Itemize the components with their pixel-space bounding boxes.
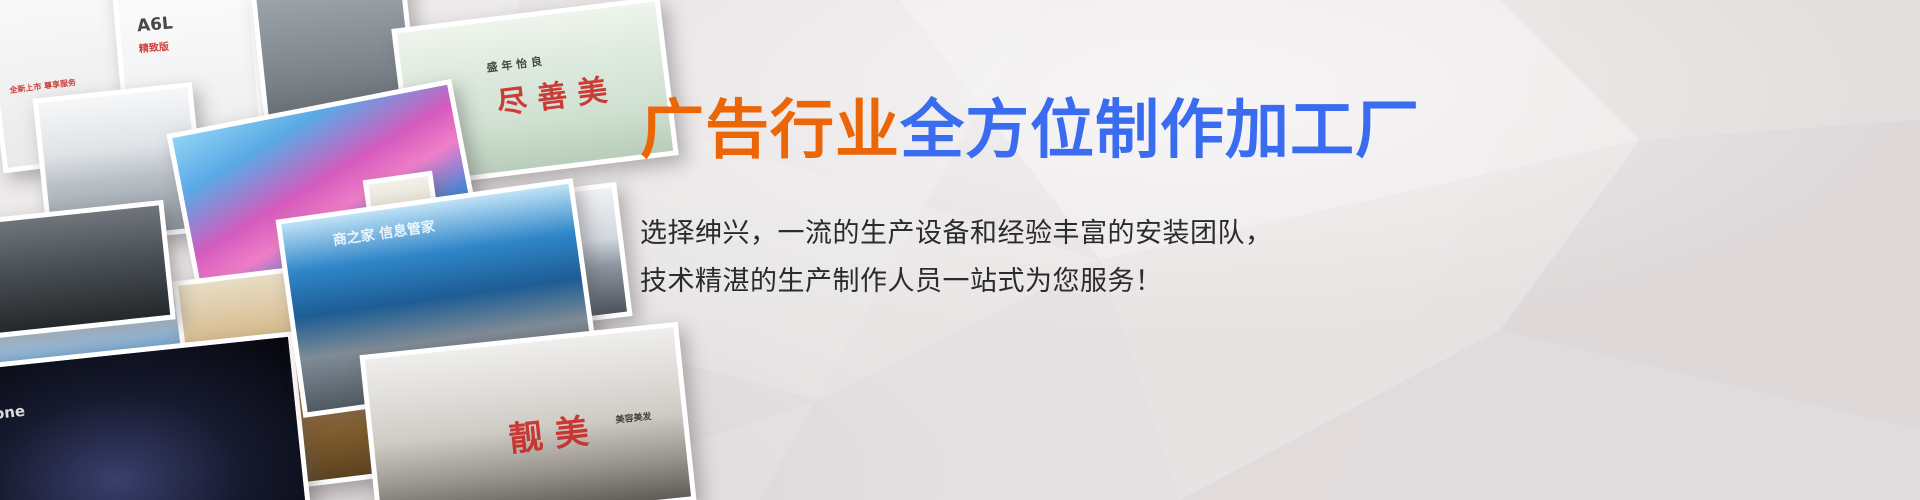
banner-text-block: 广告行业全方位制作加工厂 选择绅兴，一流的生产设备和经验丰富的安装团队， 技术精… — [640, 96, 1540, 306]
subtitle-line-2: 技术精湛的生产制作人员一站式为您服务！ — [640, 258, 1540, 306]
subtitle-line-1: 选择绅兴，一流的生产设备和经验丰富的安装团队， — [640, 210, 1540, 258]
promo-banner: 高品质 A6L 豪华版 全新上市 尊享服务 A6L 精致版 盛 年 怡 良 尽 … — [0, 0, 1920, 500]
collage-card-dark-shelf-photo — [0, 200, 176, 340]
collage-card-iphone-lightbox: hone 引领智能潮流生活 — [0, 331, 316, 500]
photo-collage: 高品质 A6L 豪华版 全新上市 尊享服务 A6L 精致版 盛 年 怡 良 尽 … — [0, 0, 730, 500]
banner-subtitle: 选择绅兴，一流的生产设备和经验丰富的安装团队， 技术精湛的生产制作人员一站式为您… — [640, 210, 1540, 306]
headline-part-blue: 全方位制作加工厂 — [900, 94, 1420, 168]
headline-part-orange: 广告行业 — [640, 94, 900, 168]
page-title: 广告行业全方位制作加工厂 — [640, 96, 1540, 166]
